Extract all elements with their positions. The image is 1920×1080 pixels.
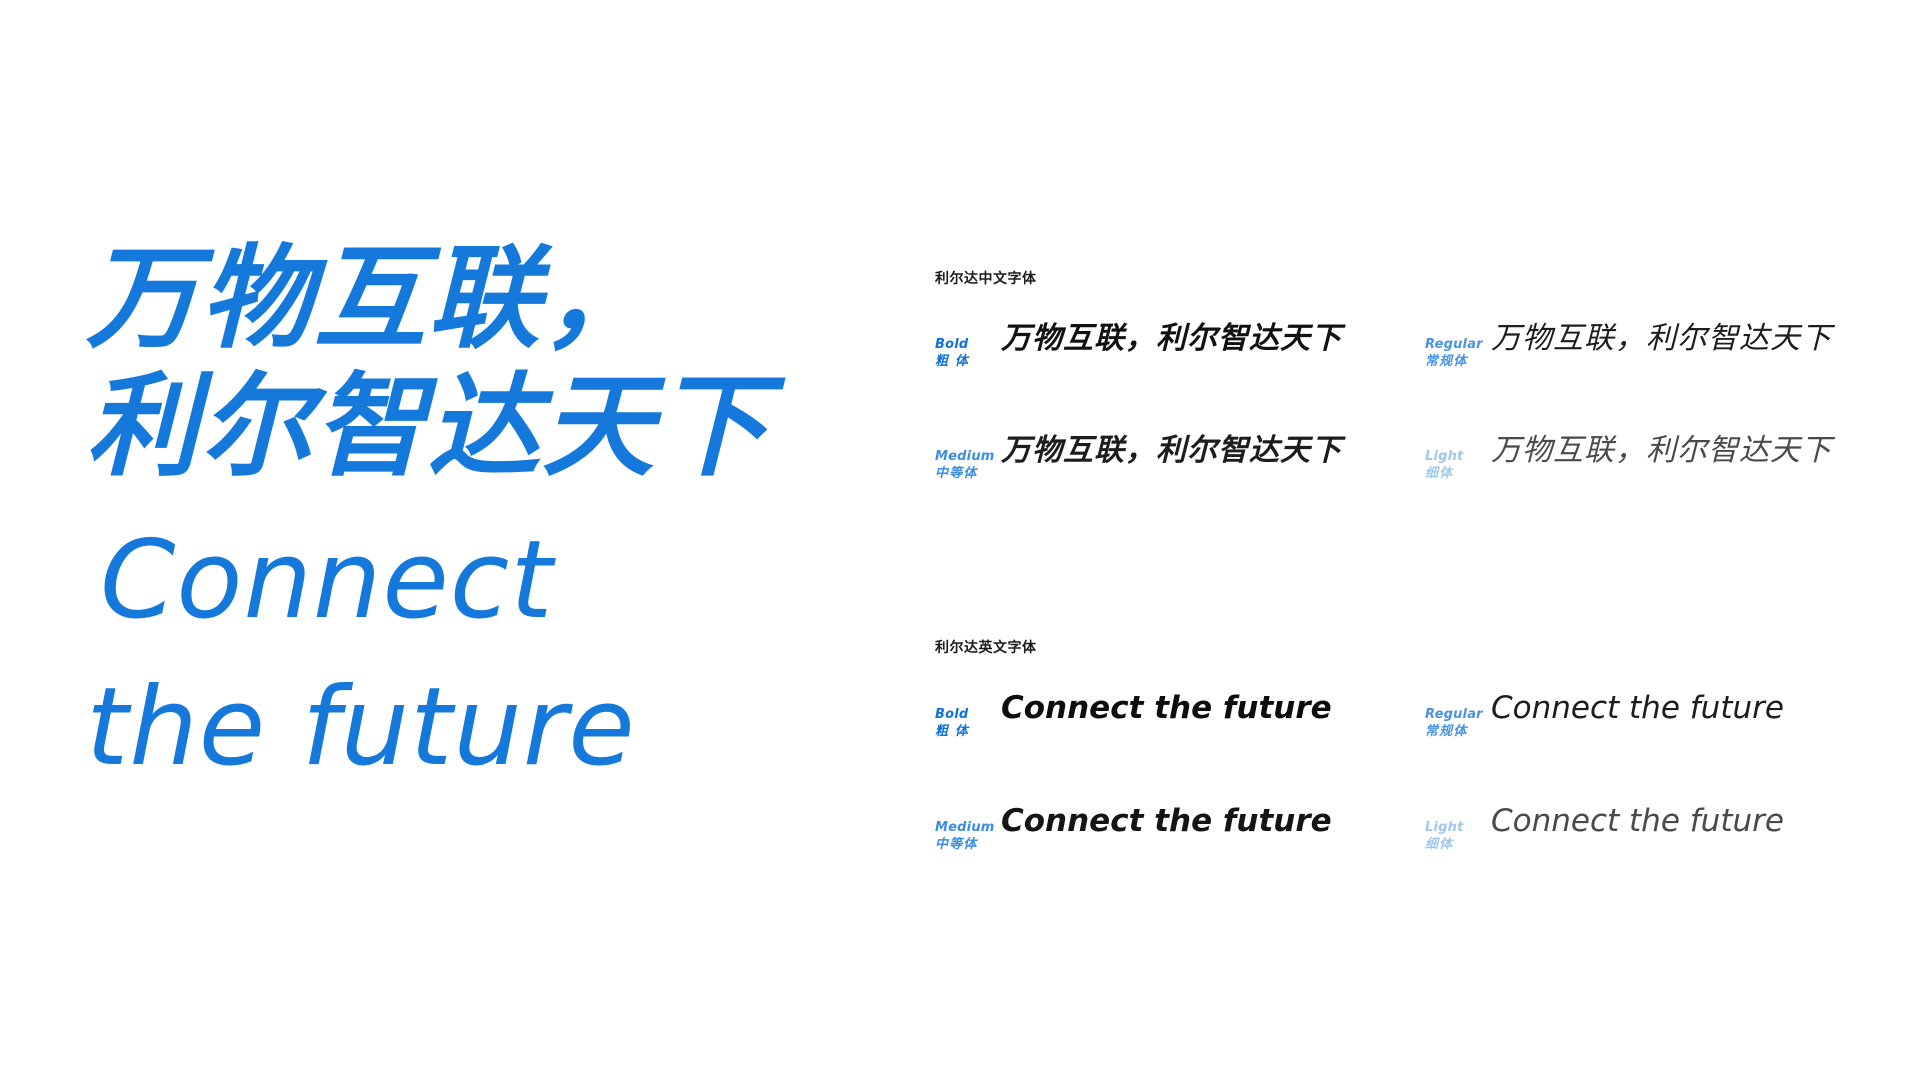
specimen-sample-text: Connect the future bbox=[1001, 693, 1332, 724]
weight-label-cn: 粗 体 bbox=[935, 723, 1001, 740]
specimen-cell-medium: Medium 中等体 Connect the future bbox=[935, 806, 1425, 853]
specimen-rows-chinese: Bold 粗 体 万物互联，利尔智达天下 Regular 常规体 万物互联，利尔… bbox=[935, 324, 1865, 483]
specimen-sample-text: Connect the future bbox=[1491, 806, 1784, 837]
specimen-cell-regular: Regular 常规体 万物互联，利尔智达天下 bbox=[1425, 324, 1865, 370]
specimen-row: Bold 粗 体 Connect the future Regular 常规体 … bbox=[935, 693, 1865, 740]
specimen-rows-english: Bold 粗 体 Connect the future Regular 常规体 … bbox=[935, 693, 1865, 854]
hero-chinese-line-1: 万物互联， bbox=[86, 232, 866, 366]
weight-label-cn: 中等体 bbox=[935, 836, 1001, 853]
hero-lockup: 万物互联， 利尔智达天下 Connect the future bbox=[86, 232, 866, 789]
specimen-panel: 利尔达中文字体 Bold 粗 体 万物互联，利尔智达天下 Regular 常规体 bbox=[935, 268, 1865, 853]
weight-label-regular: Regular 常规体 bbox=[1425, 336, 1491, 370]
specimen-cell-regular: Regular 常规体 Connect the future bbox=[1425, 693, 1865, 740]
specimen-sample-text: 万物互联，利尔智达天下 bbox=[1491, 436, 1832, 466]
specimen-cell-light: Light 细体 Connect the future bbox=[1425, 806, 1865, 853]
specimen-cell-light: Light 细体 万物互联，利尔智达天下 bbox=[1425, 436, 1865, 482]
specimen-cell-bold: Bold 粗 体 万物互联，利尔智达天下 bbox=[935, 324, 1425, 370]
section-chinese-typeface: 利尔达中文字体 Bold 粗 体 万物互联，利尔智达天下 Regular 常规体 bbox=[935, 268, 1865, 483]
specimen-row: Medium 中等体 Connect the future Light 细体 C… bbox=[935, 806, 1865, 853]
weight-label-light: Light 细体 bbox=[1425, 448, 1491, 482]
specimen-sample-text: Connect the future bbox=[1001, 806, 1332, 837]
section-title-chinese: 利尔达中文字体 bbox=[935, 268, 1865, 288]
section-title-english: 利尔达英文字体 bbox=[935, 637, 1865, 657]
weight-label-en: Medium bbox=[935, 819, 1001, 836]
weight-label-cn: 常规体 bbox=[1425, 723, 1491, 740]
hero-english-line-1: Connect bbox=[86, 521, 866, 642]
specimen-sample-text: 万物互联，利尔智达天下 bbox=[1491, 324, 1832, 354]
weight-label-medium: Medium 中等体 bbox=[935, 819, 1001, 853]
specimen-row: Medium 中等体 万物互联，利尔智达天下 Light 细体 万物互联，利尔智… bbox=[935, 436, 1865, 482]
section-english-typeface: 利尔达英文字体 Bold 粗 体 Connect the future Regu… bbox=[935, 637, 1865, 854]
weight-label-en: Regular bbox=[1425, 336, 1491, 353]
weight-label-bold: Bold 粗 体 bbox=[935, 336, 1001, 370]
hero-english-line-2: the future bbox=[86, 668, 866, 789]
specimen-sample-text: Connect the future bbox=[1491, 693, 1784, 724]
weight-label-en: Bold bbox=[935, 336, 1001, 353]
weight-label-en: Bold bbox=[935, 706, 1001, 723]
weight-label-bold: Bold 粗 体 bbox=[935, 706, 1001, 740]
specimen-cell-bold: Bold 粗 体 Connect the future bbox=[935, 693, 1425, 740]
weight-label-regular: Regular 常规体 bbox=[1425, 706, 1491, 740]
weight-label-cn: 细体 bbox=[1425, 465, 1491, 482]
weight-label-en: Medium bbox=[935, 448, 1001, 465]
specimen-sample-text: 万物互联，利尔智达天下 bbox=[1001, 324, 1342, 354]
specimen-sample-text: 万物互联，利尔智达天下 bbox=[1001, 436, 1342, 466]
weight-label-en: Light bbox=[1425, 448, 1491, 465]
weight-label-cn: 粗 体 bbox=[935, 353, 1001, 370]
weight-label-cn: 细体 bbox=[1425, 836, 1491, 853]
weight-label-cn: 中等体 bbox=[935, 465, 1001, 482]
weight-label-cn: 常规体 bbox=[1425, 353, 1491, 370]
specimen-cell-medium: Medium 中等体 万物互联，利尔智达天下 bbox=[935, 436, 1425, 482]
weight-label-en: Regular bbox=[1425, 706, 1491, 723]
specimen-row: Bold 粗 体 万物互联，利尔智达天下 Regular 常规体 万物互联，利尔… bbox=[935, 324, 1865, 370]
weight-label-light: Light 细体 bbox=[1425, 819, 1491, 853]
typeface-specimen-page: 万物互联， 利尔智达天下 Connect the future 利尔达中文字体 … bbox=[0, 0, 1920, 1080]
weight-label-en: Light bbox=[1425, 819, 1491, 836]
weight-label-medium: Medium 中等体 bbox=[935, 448, 1001, 482]
hero-chinese-line-2: 利尔智达天下 bbox=[86, 360, 866, 494]
